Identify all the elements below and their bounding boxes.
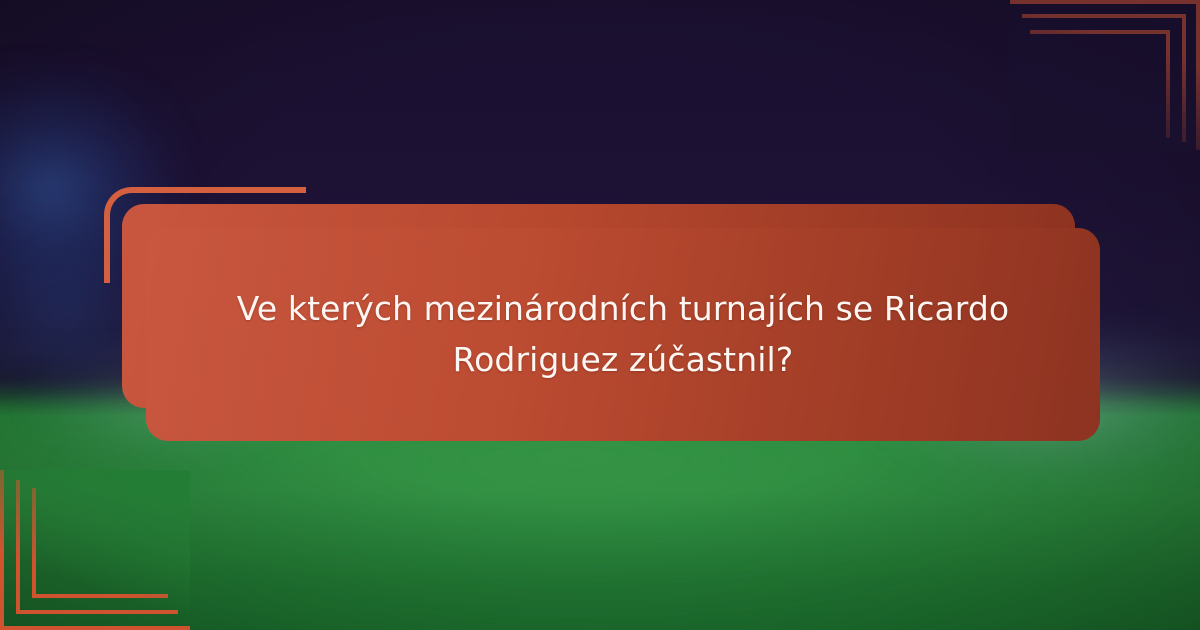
question-card: Ve kterých mezinárodních turnajích se Ri… (146, 228, 1100, 441)
question-text: Ve kterých mezinárodních turnajích se Ri… (146, 284, 1100, 384)
social-card-canvas: Ve kterých mezinárodních turnajích se Ri… (0, 0, 1200, 630)
